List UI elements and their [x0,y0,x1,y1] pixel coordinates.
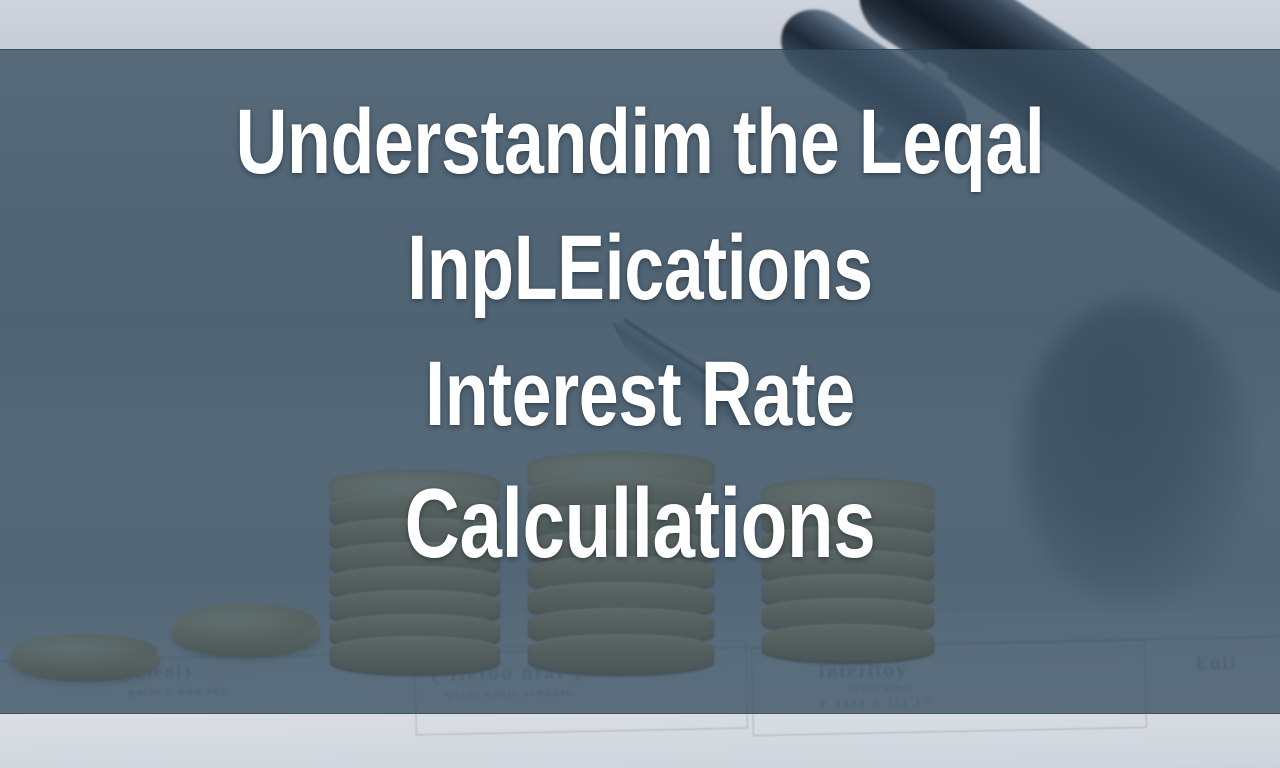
overlay-top-divider [0,49,1280,50]
title-line-3: Interest Rate [141,348,1139,440]
title-line-2: InpLEications [141,222,1139,314]
banner-title: Understandim the Leqal InpLEications Int… [0,96,1280,572]
banner-graphic: (Ieienl) yoils c.nnn top ( Iletoo nral )… [0,0,1280,768]
overlay-bottom-divider [0,713,1280,714]
title-line-1: Understandim the Leqal [141,96,1139,188]
title-line-4: Calcullations [141,474,1139,572]
